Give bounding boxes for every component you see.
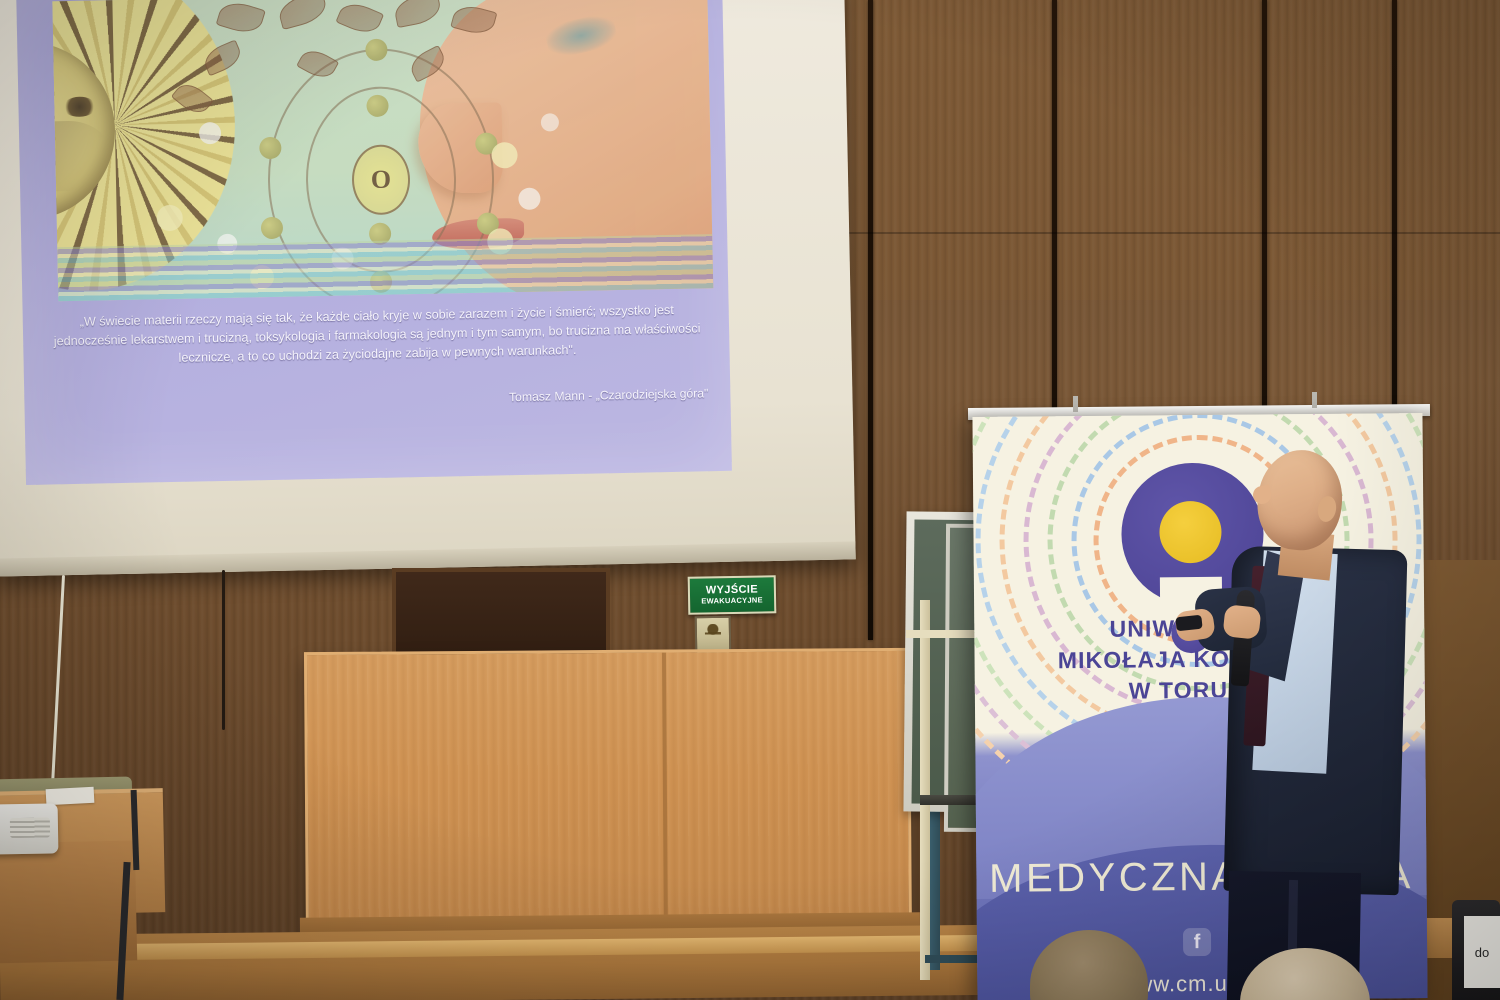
wall-horizontal-joint — [820, 232, 1500, 234]
banner-hook — [1312, 392, 1317, 408]
board-side-rail — [920, 600, 930, 980]
paper-sheet — [46, 787, 95, 805]
lectern-grain — [307, 651, 909, 950]
umk-logo-dot — [1159, 501, 1222, 564]
leaf-shape — [216, 0, 266, 37]
slide-artwork: O — [52, 0, 713, 301]
exit-sign-line2: EWAKUACYJNE — [701, 595, 763, 606]
presentation-clicker — [1175, 615, 1202, 632]
lectern-panel — [304, 648, 912, 953]
key-icon — [705, 624, 721, 648]
hanging-cable — [222, 570, 225, 730]
eyebrow-shape — [543, 11, 619, 60]
side-desk-front — [0, 840, 137, 963]
slide-quote-text: „W świecie materii rzeczy mają się tak, … — [45, 300, 710, 370]
lecture-hall-scene: Tlen – życiodajny zabójca O — [0, 0, 1500, 1000]
projection-screen: Tlen – życiodajny zabójca O — [0, 0, 856, 577]
projector-vent-icon — [10, 817, 50, 838]
exit-sign-line1: WYJŚCIE — [706, 584, 759, 597]
wall-seam — [1392, 0, 1397, 430]
presentation-slide: Tlen – życiodajny zabójca O — [16, 0, 732, 485]
emergency-exit-sign: WYJŚCIE EWAKUACYJNE — [688, 575, 777, 615]
wall-seam — [868, 0, 873, 640]
board-foot — [925, 955, 985, 963]
leaf-shape — [335, 0, 384, 38]
facebook-icon: f — [1183, 928, 1211, 956]
posted-note: do — [1464, 916, 1500, 988]
leaf-shape — [276, 0, 330, 30]
speaker-hand-right — [1222, 604, 1261, 640]
banner-hook — [1073, 396, 1078, 412]
projector-device — [0, 803, 58, 854]
slide-attribution: Tomasz Mann - „Czarodziejska góra" — [188, 386, 708, 410]
leaf-shape — [392, 0, 443, 28]
